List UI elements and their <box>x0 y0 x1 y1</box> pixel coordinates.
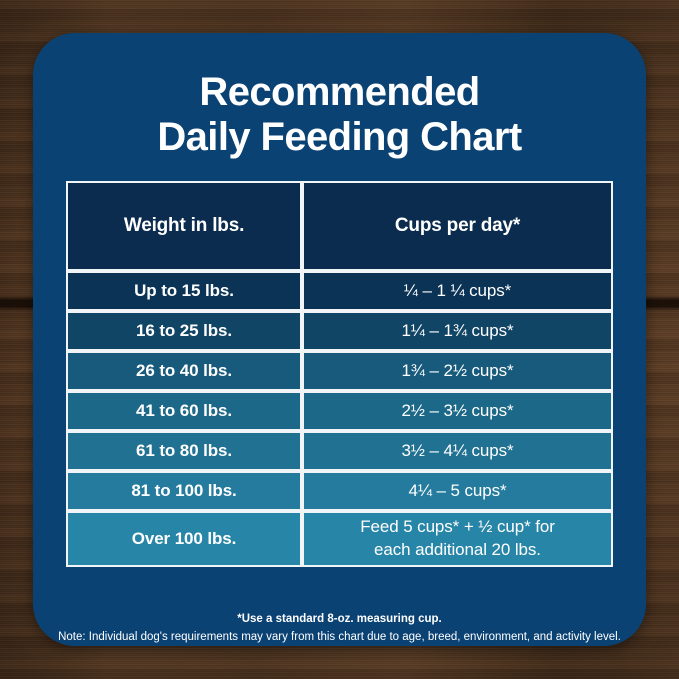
cell-cups: Feed 5 cups* + ½ cup* for each additiona… <box>302 511 613 567</box>
footnote-note: Note: Individual dog's requirements may … <box>55 629 624 646</box>
table-row: 61 to 80 lbs. 3½ – 4¼ cups* <box>66 431 613 471</box>
cell-weight: 16 to 25 lbs. <box>66 311 302 351</box>
feeding-chart-card: Recommended Daily Feeding Chart Weight i… <box>33 33 646 646</box>
column-header-weight: Weight in lbs. <box>66 181 302 271</box>
title-line-1: Recommended <box>61 70 618 115</box>
title-line-2: Daily Feeding Chart <box>61 115 618 160</box>
cell-weight: 61 to 80 lbs. <box>66 431 302 471</box>
cell-weight: 26 to 40 lbs. <box>66 351 302 391</box>
table-header-row: Weight in lbs. Cups per day* <box>66 181 613 271</box>
table-row: 16 to 25 lbs. 1¼ – 1¾ cups* <box>66 311 613 351</box>
cell-weight: Over 100 lbs. <box>66 511 302 567</box>
cell-cups: 1¼ – 1¾ cups* <box>302 311 613 351</box>
column-header-cups: Cups per day* <box>302 181 613 271</box>
table-row: 26 to 40 lbs. 1¾ – 2½ cups* <box>66 351 613 391</box>
cell-cups: 1¾ – 2½ cups* <box>302 351 613 391</box>
footnote-measuring-cup: *Use a standard 8-oz. measuring cup. <box>55 611 624 629</box>
feeding-chart-table: Weight in lbs. Cups per day* Up to 15 lb… <box>66 181 613 567</box>
cell-weight: 41 to 60 lbs. <box>66 391 302 431</box>
cell-cups: 2½ – 3½ cups* <box>302 391 613 431</box>
cell-cups-line-1: Feed 5 cups* + ½ cup* for <box>310 516 605 539</box>
page-title: Recommended Daily Feeding Chart <box>33 33 646 160</box>
table-header: Weight in lbs. Cups per day* <box>66 181 613 271</box>
cell-cups: ¼ – 1 ¼ cups* <box>302 271 613 311</box>
table-row: Over 100 lbs. Feed 5 cups* + ½ cup* for … <box>66 511 613 567</box>
cell-cups: 4¼ – 5 cups* <box>302 471 613 511</box>
table-row: 41 to 60 lbs. 2½ – 3½ cups* <box>66 391 613 431</box>
table-row: 81 to 100 lbs. 4¼ – 5 cups* <box>66 471 613 511</box>
table-row: Up to 15 lbs. ¼ – 1 ¼ cups* <box>66 271 613 311</box>
footnotes: *Use a standard 8-oz. measuring cup. Not… <box>33 611 646 646</box>
cell-cups-line-2: each additional 20 lbs. <box>310 539 605 562</box>
table-body: Up to 15 lbs. ¼ – 1 ¼ cups* 16 to 25 lbs… <box>66 271 613 567</box>
cell-weight: Up to 15 lbs. <box>66 271 302 311</box>
cell-weight: 81 to 100 lbs. <box>66 471 302 511</box>
cell-cups: 3½ – 4¼ cups* <box>302 431 613 471</box>
